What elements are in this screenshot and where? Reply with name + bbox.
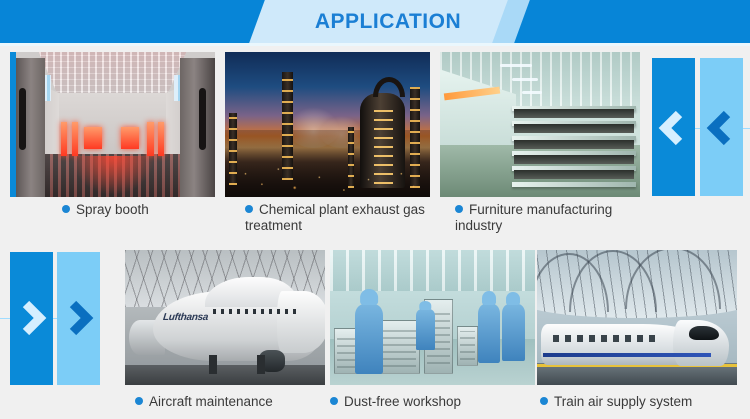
caption-train: Train air supply system	[540, 394, 730, 410]
bullet-icon	[455, 205, 463, 213]
caption-dust-free-workshop: Dust-free workshop	[330, 394, 520, 410]
cleanroom-illustration	[330, 250, 535, 385]
image-card-chemical-plant[interactable]	[225, 52, 430, 197]
bullet-icon	[62, 205, 70, 213]
caption-text: Chemical plant exhaust gas treatment	[245, 202, 425, 233]
bullet-icon	[245, 205, 253, 213]
chevron-left-icon	[700, 58, 743, 196]
image-card-train[interactable]	[537, 250, 737, 385]
nav-next-button-solid[interactable]	[10, 252, 53, 385]
worker-figure	[502, 304, 525, 361]
chevron-left-icon	[652, 58, 695, 196]
caption-text: Dust-free workshop	[344, 394, 461, 409]
chemical-plant-illustration	[225, 52, 430, 197]
image-card-dust-free-workshop[interactable]	[330, 250, 535, 385]
caption-text: Aircraft maintenance	[149, 394, 273, 409]
caption-furniture: Furniture manufacturing industry	[455, 202, 645, 234]
caption-chemical-plant: Chemical plant exhaust gas treatment	[245, 202, 445, 234]
page-title: APPLICATION	[257, 0, 519, 43]
chevron-right-icon	[57, 252, 100, 385]
high-speed-train-illustration	[537, 250, 737, 385]
aircraft-hangar-illustration: Lufthansa	[125, 250, 325, 385]
bullet-icon	[135, 397, 143, 405]
nav-prev-button-solid[interactable]	[652, 58, 695, 196]
chevron-right-icon	[10, 252, 53, 385]
caption-text: Furniture manufacturing industry	[455, 202, 612, 233]
worker-figure	[355, 304, 384, 374]
nav-next-button-light[interactable]	[57, 252, 100, 385]
caption-text: Spray booth	[76, 202, 149, 217]
bullet-icon	[330, 397, 338, 405]
image-card-furniture[interactable]	[440, 52, 640, 197]
nav-prev-button-light[interactable]	[700, 58, 743, 196]
image-card-aircraft[interactable]: Lufthansa	[125, 250, 325, 385]
worker-figure	[478, 304, 501, 363]
furniture-room-illustration	[440, 52, 640, 197]
caption-aircraft: Aircraft maintenance	[135, 394, 325, 410]
caption-text: Train air supply system	[554, 394, 692, 409]
drying-rack	[512, 104, 636, 188]
header-underline	[0, 43, 750, 46]
bullet-icon	[540, 397, 548, 405]
worker-figure	[416, 309, 434, 350]
image-card-spray-booth[interactable]	[10, 52, 215, 197]
caption-spray-booth: Spray booth	[62, 202, 212, 218]
application-section: APPLICATION Spr	[0, 0, 750, 419]
spray-booth-illustration	[10, 52, 215, 197]
aircraft-livery-text: Lufthansa	[162, 312, 208, 323]
